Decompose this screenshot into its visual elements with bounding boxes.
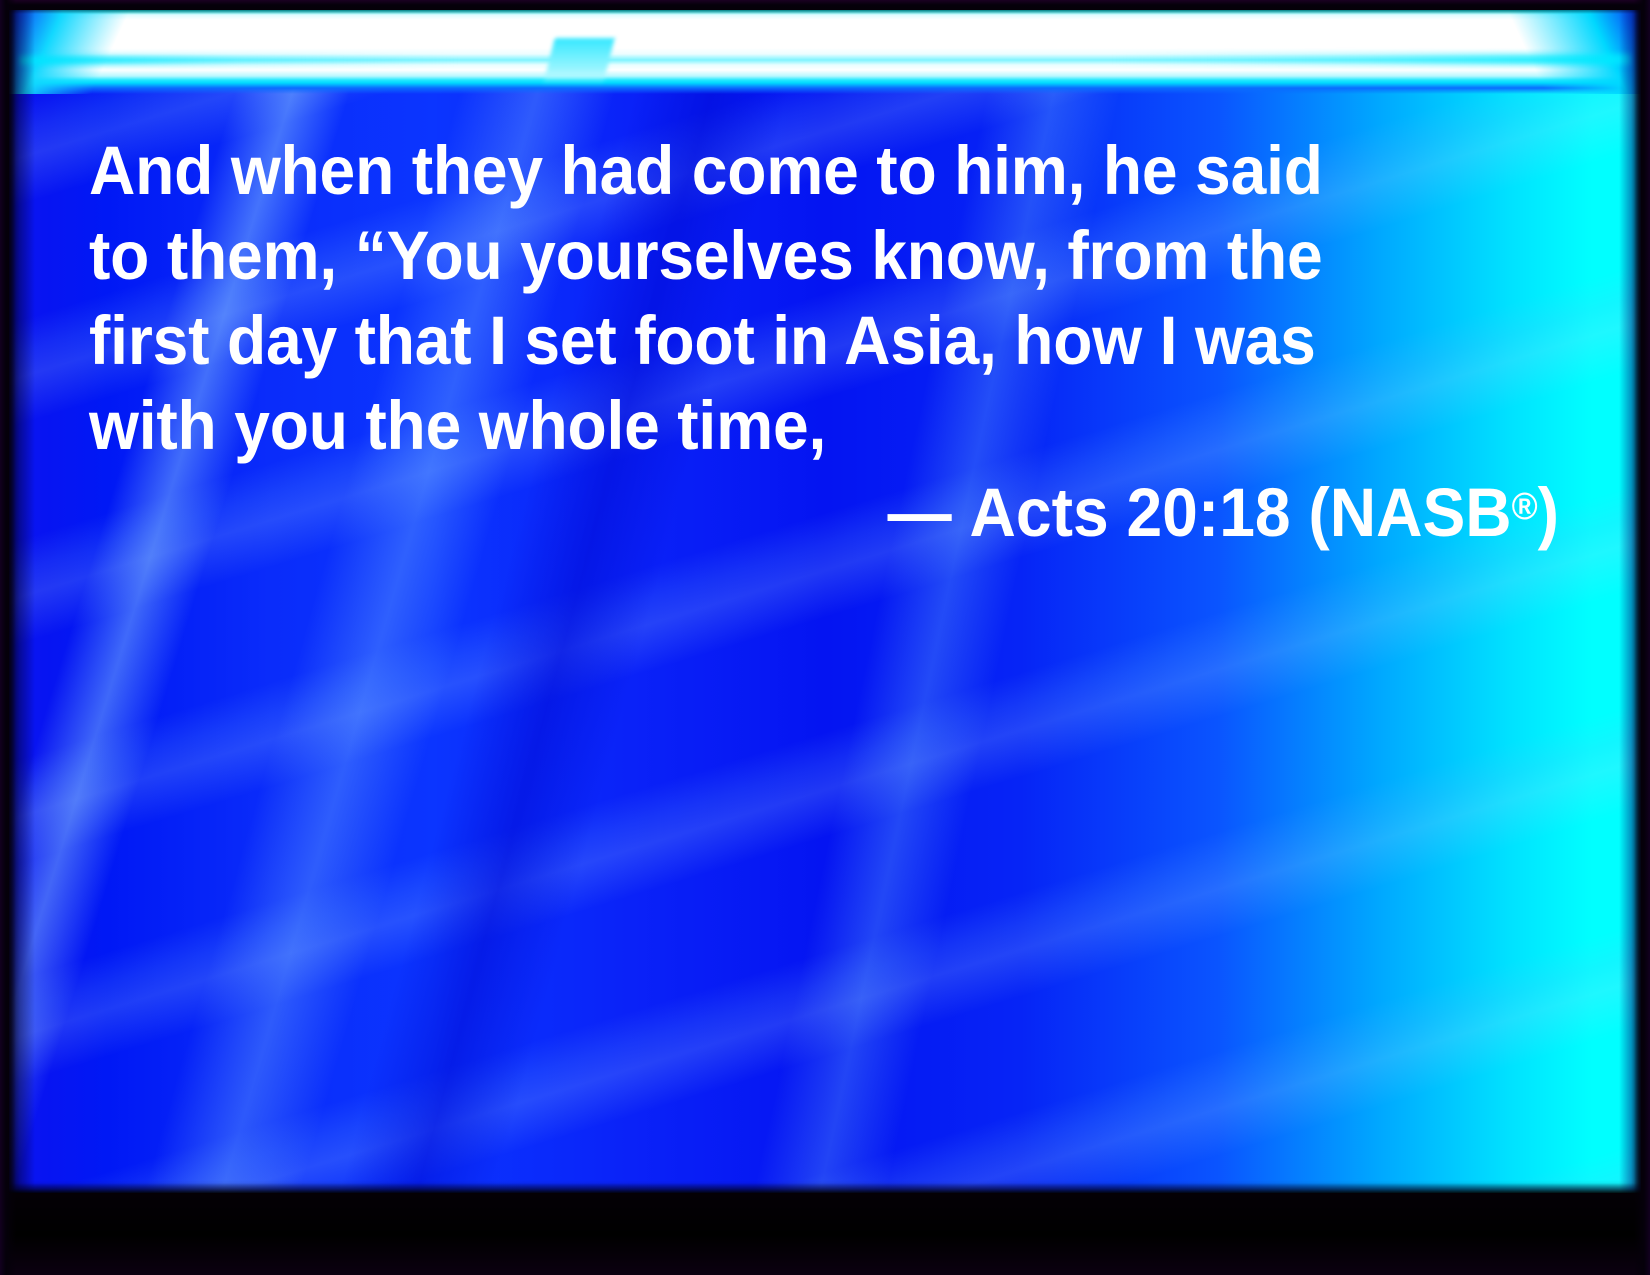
verse-line-2: to them, “You yourselves know, from the — [89, 213, 1456, 298]
canvas-right-shade — [1619, 10, 1641, 1193]
verse-reference: — Acts 20:18 (NASB®) — [89, 470, 1559, 555]
reference-citation: Acts 20:18 — [970, 474, 1291, 551]
verse-reference-inner: — Acts 20:18 (NASB®) — [888, 470, 1559, 555]
reference-spacer-1 — [952, 474, 970, 551]
slide-canvas: And when they had come to him, he said t… — [9, 10, 1641, 1193]
canvas-left-shade — [9, 10, 35, 1193]
reference-translation-open: (NASB — [1308, 474, 1511, 551]
reference-em-dash: — — [888, 474, 952, 551]
scripture-slide: And when they had come to him, he said t… — [0, 0, 1650, 1275]
registered-trademark-icon: ® — [1512, 486, 1538, 528]
reference-spacer-2 — [1291, 474, 1309, 551]
verse-line-4: with you the whole time, — [89, 383, 1456, 468]
top-glow-smear-right — [1111, 54, 1631, 65]
verse-text-block: And when they had come to him, he said t… — [89, 128, 1559, 468]
verse-line-3: first day that I set foot in Asia, how I… — [89, 298, 1456, 383]
canvas-bottom-shade — [9, 1183, 1641, 1193]
verse-line-1: And when they had come to him, he said — [89, 128, 1456, 213]
top-glow-right-taper — [1441, 10, 1641, 94]
top-glow-smear-left — [19, 56, 459, 65]
reference-translation-close: ) — [1538, 474, 1559, 551]
top-glow-notch — [543, 38, 614, 84]
top-glow-bar — [9, 10, 1641, 94]
